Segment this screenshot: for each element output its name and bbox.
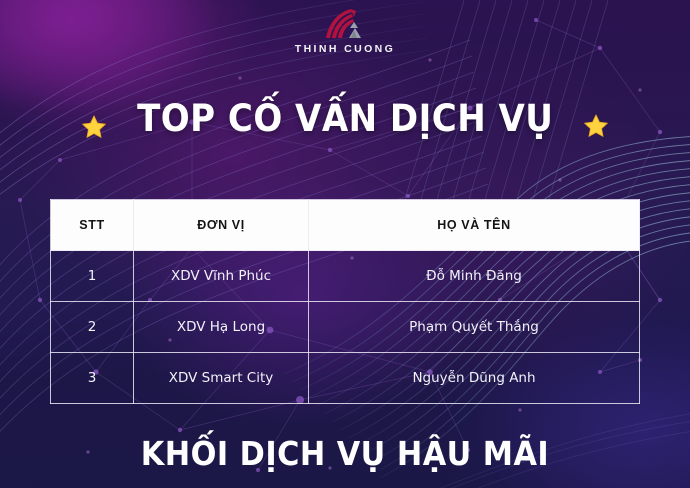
cell-unit: XDV Hạ Long xyxy=(134,302,309,353)
cell-stt: 2 xyxy=(51,302,134,353)
cell-stt: 1 xyxy=(51,251,134,302)
brand-logo: THINH CUONG xyxy=(0,8,690,55)
star-icon xyxy=(81,114,107,140)
table-row: 3 XDV Smart City Nguyễn Dũng Anh xyxy=(51,353,640,404)
cell-name: Phạm Quyết Thắng xyxy=(309,302,640,353)
poster-canvas: THINH CUONG TOP CỐ VẤN DỊCH VỤ STT ĐƠN V… xyxy=(0,0,690,488)
thinh-cuong-swoosh-logo-icon xyxy=(321,8,369,40)
title-row: TOP CỐ VẤN DỊCH VỤ xyxy=(0,98,690,140)
footer: KHỐI DỊCH VỤ HẬU MÃI xyxy=(0,434,690,473)
table-row: 2 XDV Hạ Long Phạm Quyết Thắng xyxy=(51,302,640,353)
table-header-row: STT ĐƠN VỊ HỌ VÀ TÊN xyxy=(51,200,640,251)
page-title: TOP CỐ VẤN DỊCH VỤ xyxy=(137,100,553,139)
footer-title: KHỐI DỊCH VỤ HẬU MÃI xyxy=(141,434,549,473)
cell-stt: 3 xyxy=(51,353,134,404)
star-icon xyxy=(583,113,609,139)
cell-name: Nguyễn Dũng Anh xyxy=(309,353,640,404)
column-header-unit: ĐƠN VỊ xyxy=(134,200,309,251)
ranking-table: STT ĐƠN VỊ HỌ VÀ TÊN 1 XDV Vĩnh Phúc Đỗ … xyxy=(50,199,640,404)
cell-unit: XDV Smart City xyxy=(134,353,309,404)
column-header-name: HỌ VÀ TÊN xyxy=(309,200,640,251)
cell-unit: XDV Vĩnh Phúc xyxy=(134,251,309,302)
ranking-table-container: STT ĐƠN VỊ HỌ VÀ TÊN 1 XDV Vĩnh Phúc Đỗ … xyxy=(50,199,639,391)
brand-name: THINH CUONG xyxy=(295,43,395,55)
cell-name: Đỗ Minh Đăng xyxy=(309,251,640,302)
table-row: 1 XDV Vĩnh Phúc Đỗ Minh Đăng xyxy=(51,251,640,302)
column-header-stt: STT xyxy=(51,200,134,251)
